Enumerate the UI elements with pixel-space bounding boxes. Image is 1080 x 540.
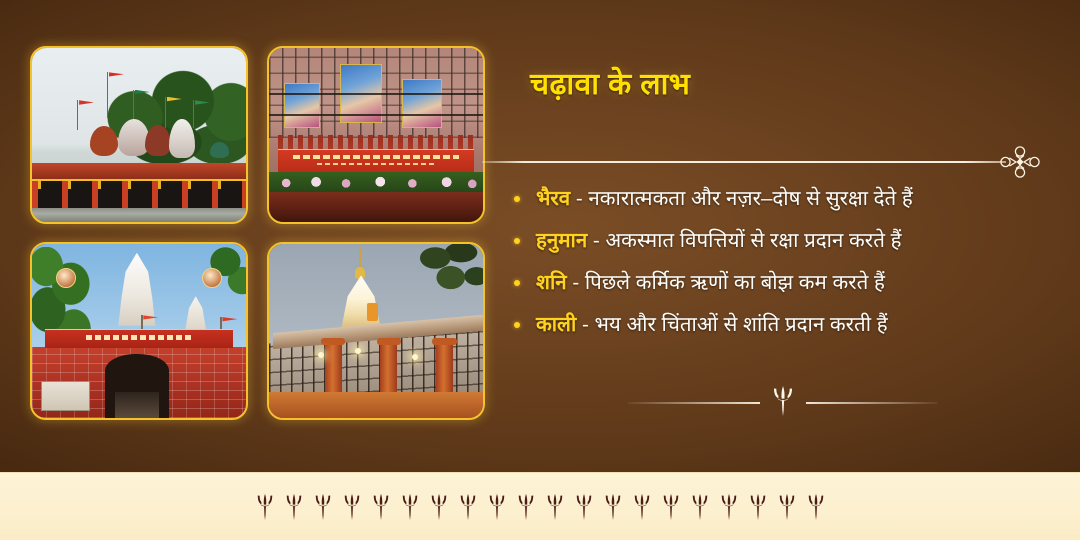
bullet-dot: [514, 238, 520, 244]
trishul-icon: [487, 492, 507, 522]
rule-line: [482, 161, 1006, 163]
trishul-icon: [770, 386, 796, 421]
trishul-icon: [400, 492, 420, 522]
bullet-dot: [514, 280, 520, 286]
crowd: [269, 192, 483, 222]
trishul-icon: [632, 492, 652, 522]
photo-bottom-right: [267, 242, 485, 420]
divider-line-right: [806, 402, 938, 403]
divider-line-left: [628, 402, 760, 403]
drape: [269, 392, 483, 418]
bullet-dot: [514, 322, 520, 328]
separator: -: [567, 271, 585, 294]
notice-board: [41, 381, 90, 411]
deity-poster: [284, 83, 320, 129]
benefit-text: पिछले कर्मिक ऋणों का बोझ कम करते हैं: [585, 271, 885, 294]
trishul-icon: [719, 492, 739, 522]
photo-top-left: [30, 46, 248, 224]
trishul-icon: [574, 492, 594, 522]
photo-top-left-image: [32, 48, 246, 222]
photo-top-right-image: [269, 48, 483, 222]
photo-bottom-right-image: [269, 244, 483, 418]
photo-bottom-left: [30, 242, 248, 420]
trishul-icon: [458, 492, 478, 522]
photo-bottom-left-image: [32, 244, 246, 418]
benefit-text: भय और चिंताओं से शांति प्रदान करती हैं: [594, 313, 887, 336]
list-item: शनि - पिछले कर्मिक ऋणों का बोझ कम करते ह…: [510, 266, 1070, 300]
trishul-divider: [628, 382, 938, 424]
sign-board: [45, 329, 233, 347]
trishul-icon: [516, 492, 536, 522]
benefit-text: नकारात्मकता और नज़र–दोष से सुरक्षा देते …: [588, 187, 912, 210]
trishul-icon: [690, 492, 710, 522]
separator: -: [587, 229, 605, 252]
benefit-text: अकस्मात विपत्तियों से रक्षा प्रदान करते …: [605, 229, 901, 252]
list-item: भैरव - नकारात्मकता और नज़र–दोष से सुरक्ष…: [510, 182, 1070, 216]
deity-poster: [402, 79, 443, 128]
trishul-icon: [806, 492, 826, 522]
band-trident-row: [255, 492, 826, 522]
trishul-icon: [371, 492, 391, 522]
deity-name: शनि: [536, 271, 567, 294]
slide-canvas: चढ़ावा के लाभ भैरव - नकारात्मक: [0, 0, 1080, 540]
gate-arch: [105, 354, 169, 418]
content-panel: चढ़ावा के लाभ भैरव - नकारात्मक: [482, 0, 1080, 473]
benefits-list: भैरव - नकारात्मकता और नज़र–दोष से सुरक्ष…: [510, 182, 1070, 350]
flower-garlands: [269, 172, 483, 195]
trishul-icon: [777, 492, 797, 522]
bullet-dot: [514, 196, 520, 202]
kalash: [355, 267, 366, 279]
photo-top-right: [267, 46, 485, 224]
separator: -: [570, 187, 588, 210]
trishul-icon: [603, 492, 623, 522]
tree: [406, 244, 483, 307]
list-item: काली - भय और चिंताओं से शांति प्रदान करत…: [510, 308, 1070, 342]
deity-name: भैरव: [536, 187, 570, 210]
title-rule: [482, 145, 1080, 179]
trishul-icon: [284, 492, 304, 522]
separator: -: [576, 313, 594, 336]
page-title: चढ़ावा के लाभ: [530, 62, 690, 103]
deity-name: हनुमान: [536, 229, 587, 252]
bottom-band: [0, 472, 1080, 540]
trishul-icon: [342, 492, 362, 522]
trishul-icon: [545, 492, 565, 522]
trishul-icon: [429, 492, 449, 522]
deity-name: काली: [536, 313, 576, 336]
trishul-icon: [661, 492, 681, 522]
trishul-icon: [255, 492, 275, 522]
trishul-icon: [313, 492, 333, 522]
photo-grid: [30, 46, 480, 436]
trishul-icon: [748, 492, 768, 522]
diamond-knot-ornament: [996, 145, 1044, 179]
list-item: हनुमान - अकस्मात विपत्तियों से रक्षा प्र…: [510, 224, 1070, 258]
